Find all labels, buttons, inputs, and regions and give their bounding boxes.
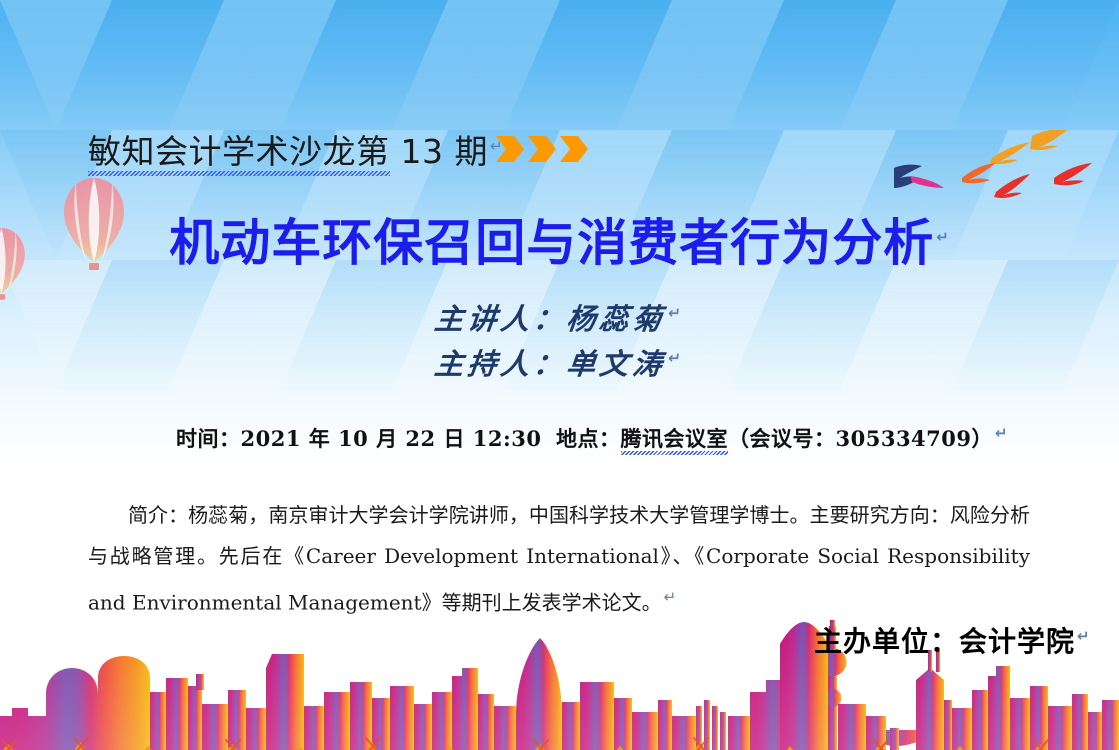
event-venue: 腾讯会议室 [621,426,729,451]
page-title-text: 机动车环保召回与消费者行为分析 [169,214,934,272]
paragraph-mark-icon: ↵ [1075,627,1091,645]
series-kicker: 敏知会计学术沙龙第 13 期↵ [88,125,503,173]
paragraph-mark-icon: ↵ [993,424,1008,442]
speaker-line: 主讲人：杨蕊菊↵ [0,296,1119,338]
paragraph-mark-icon: ↵ [665,349,685,367]
event-meeting-id: （会议号：305334709） [728,426,993,451]
kicker-underlined-text: 敏知会计学术沙龙第 [88,132,390,171]
host-line: 主持人：单文涛↵ [0,341,1119,383]
event-poster: 敏知会计学术沙龙第 13 期↵ 机动车环保召回与消费者行为分析↵ 主讲人：杨蕊菊… [0,0,1119,750]
paragraph-mark-icon: ↵ [665,304,685,322]
kicker-issue-number: 13 期 [390,132,488,171]
page-title: 机动车环保召回与消费者行为分析↵ [0,218,1119,268]
event-time: 时间：2021 年 10 月 22 日 12:30 [176,423,541,453]
speaker-biography-text: 简介：杨蕊菊，南京审计大学会计学院讲师，中国科学技术大学管理学博士。主要研究方向… [88,503,1030,615]
triple-chevron-right-icon [494,132,594,166]
speaker-text: 主讲人：杨蕊菊 [433,302,668,336]
paragraph-mark-icon: ↵ [934,228,950,246]
event-place: 地点：腾讯会议室（会议号：305334709）↵ [556,423,1008,453]
speaker-biography: 简介：杨蕊菊，南京审计大学会计学院讲师，中国科学技术大学管理学博士。主要研究方向… [88,495,1030,624]
paragraph-mark-icon: ↵ [662,588,677,606]
organizer-line: 主办单位：会计学院↵ [814,620,1091,660]
event-place-label: 地点： [556,426,621,451]
organizer-text: 主办单位：会计学院 [814,625,1075,658]
host-text: 主持人：单文涛 [433,347,668,381]
